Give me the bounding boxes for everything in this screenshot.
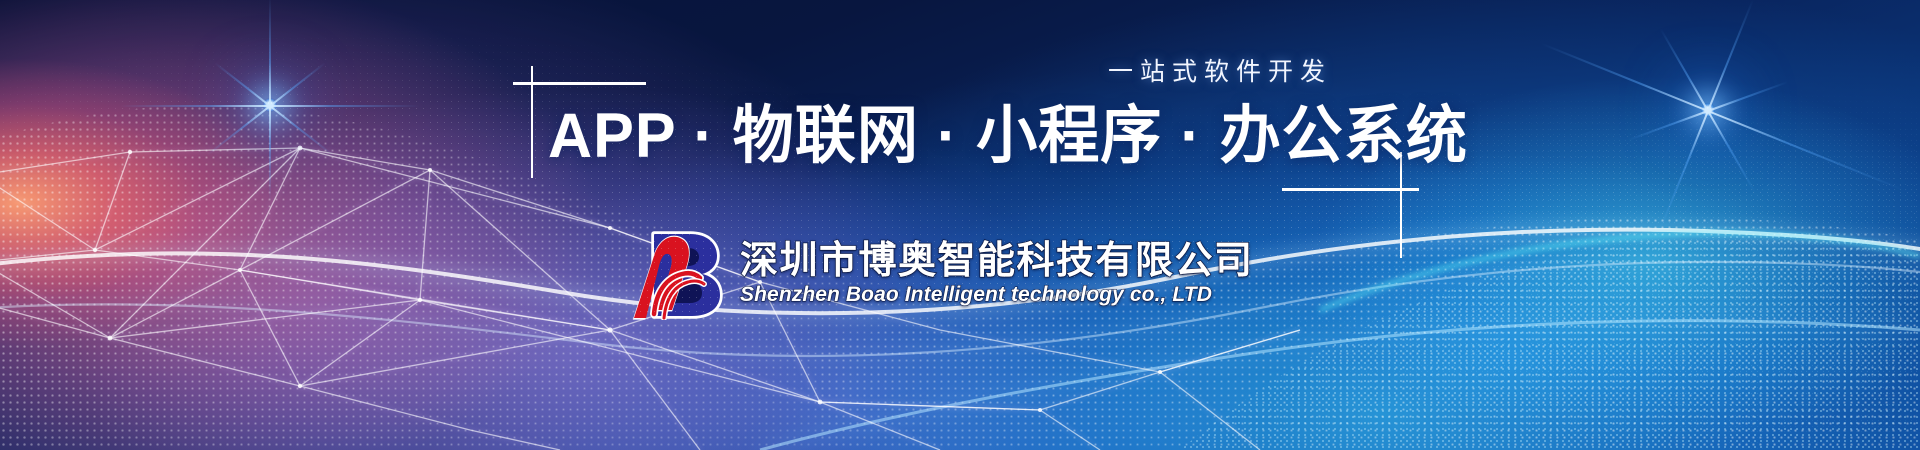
promo-banner: 一站式软件开发 APP · 物联网 · 小程序 · 办公系统 深圳市博奥智能科技… — [0, 0, 1920, 450]
halftone-dot-overlay-fine — [0, 0, 1920, 450]
